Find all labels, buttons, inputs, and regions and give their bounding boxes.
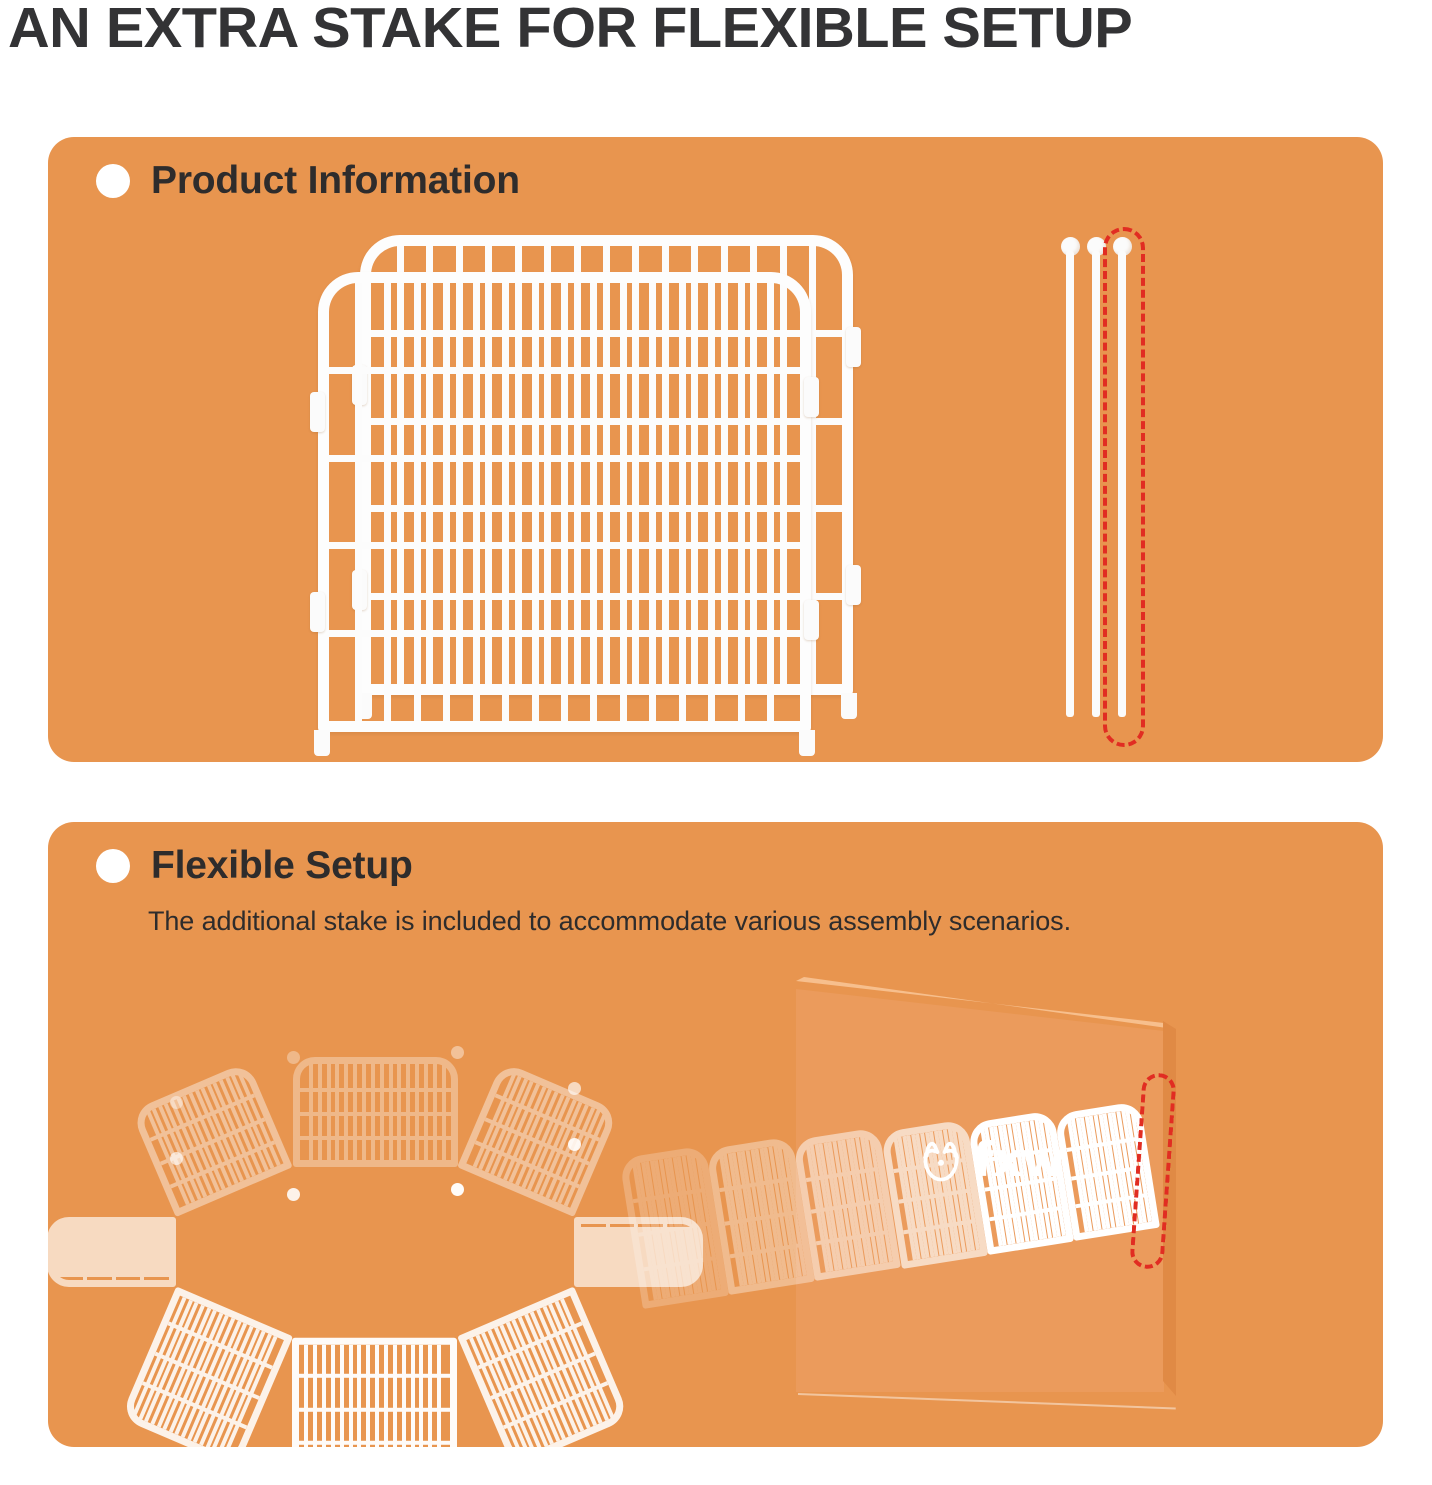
playpen-panel-mesh xyxy=(581,1224,696,1280)
figure-wall-mounted-playpen: fxw xyxy=(648,977,1348,1417)
card-product-information: Product Information xyxy=(48,137,1383,762)
stake-shaft xyxy=(1066,251,1074,717)
playpen-panel-mesh xyxy=(129,1296,283,1459)
mesh-wire-horizontal xyxy=(141,1224,145,1280)
panel-foot xyxy=(314,730,330,756)
connector-tab xyxy=(804,600,819,640)
mesh-wire-horizontal xyxy=(300,1407,451,1411)
card-heading-product-information: Product Information xyxy=(96,161,520,201)
figure-stakes-group xyxy=(1053,237,1173,737)
figure-octagon-playpen xyxy=(93,1037,653,1427)
mesh-wire-horizontal xyxy=(663,1224,667,1280)
card-heading-label: Flexible Setup xyxy=(151,846,413,886)
playpen-panel xyxy=(47,1217,176,1287)
card-heading-label: Product Information xyxy=(151,161,520,201)
playpen-panel xyxy=(293,1057,458,1167)
playpen-panel-mesh xyxy=(300,1064,451,1160)
mesh-wire-horizontal xyxy=(605,1224,609,1280)
mesh-wire-horizontal xyxy=(112,1224,116,1280)
mesh-wire-horizontal xyxy=(329,542,800,549)
panel-joint xyxy=(451,1046,464,1059)
mesh-wire-horizontal xyxy=(300,1374,451,1378)
stake-shaft xyxy=(1092,251,1100,717)
panel-horizontal-wires xyxy=(329,283,800,721)
card-heading-flexible-setup: Flexible Setup xyxy=(96,846,413,886)
playpen-panel-mesh xyxy=(300,1344,451,1478)
playpen-panel xyxy=(574,1217,703,1287)
mesh-wire-horizontal xyxy=(329,367,800,374)
page-title: AN EXTRA STAKE FOR FLEXIBLE SETUP xyxy=(8,0,1432,58)
card-subtitle: The additional stake is included to acco… xyxy=(148,906,1071,937)
mesh-panel-front xyxy=(318,272,811,732)
mesh-wire-horizontal xyxy=(634,1224,638,1280)
panel-joint xyxy=(451,1183,464,1196)
connector-tab xyxy=(846,565,861,605)
bullet-dot-icon xyxy=(96,164,130,198)
playpen-panel-mesh xyxy=(54,1224,169,1280)
panel-foot xyxy=(799,730,815,756)
playpen-panel-mesh xyxy=(140,1070,283,1207)
bullet-dot-icon xyxy=(96,849,130,883)
mesh-wire-horizontal xyxy=(300,1441,451,1445)
mesh-wire-horizontal xyxy=(329,455,800,462)
panel-joint xyxy=(568,1082,581,1095)
connector-tab xyxy=(804,377,819,417)
mesh-wire-horizontal xyxy=(300,1088,451,1092)
panel-joint xyxy=(170,1096,183,1109)
playpen-panel xyxy=(457,1061,619,1217)
mesh-wire-horizontal xyxy=(83,1224,87,1280)
playpen-panel-mesh xyxy=(466,1070,609,1207)
card-flexible-setup: Flexible Setup The additional stake is i… xyxy=(48,822,1383,1447)
extra-stake-highlight xyxy=(1103,227,1145,747)
connector-tab xyxy=(846,327,861,367)
playpen-panel xyxy=(120,1287,292,1468)
floor-line xyxy=(798,1393,1176,1410)
connector-tab xyxy=(310,592,325,632)
mesh-wire-horizontal xyxy=(300,1136,451,1140)
playpen-panel xyxy=(293,1337,458,1485)
connector-tab xyxy=(310,392,325,432)
panel-joint xyxy=(287,1188,300,1201)
panel-foot xyxy=(841,693,857,719)
mesh-wire-horizontal xyxy=(300,1112,451,1116)
mesh-wire-horizontal xyxy=(329,630,800,637)
playpen-panel xyxy=(131,1061,293,1217)
playpen-panel-mesh xyxy=(466,1296,620,1459)
figure-wire-mesh-panels xyxy=(318,227,938,737)
playpen-panel xyxy=(457,1287,629,1468)
